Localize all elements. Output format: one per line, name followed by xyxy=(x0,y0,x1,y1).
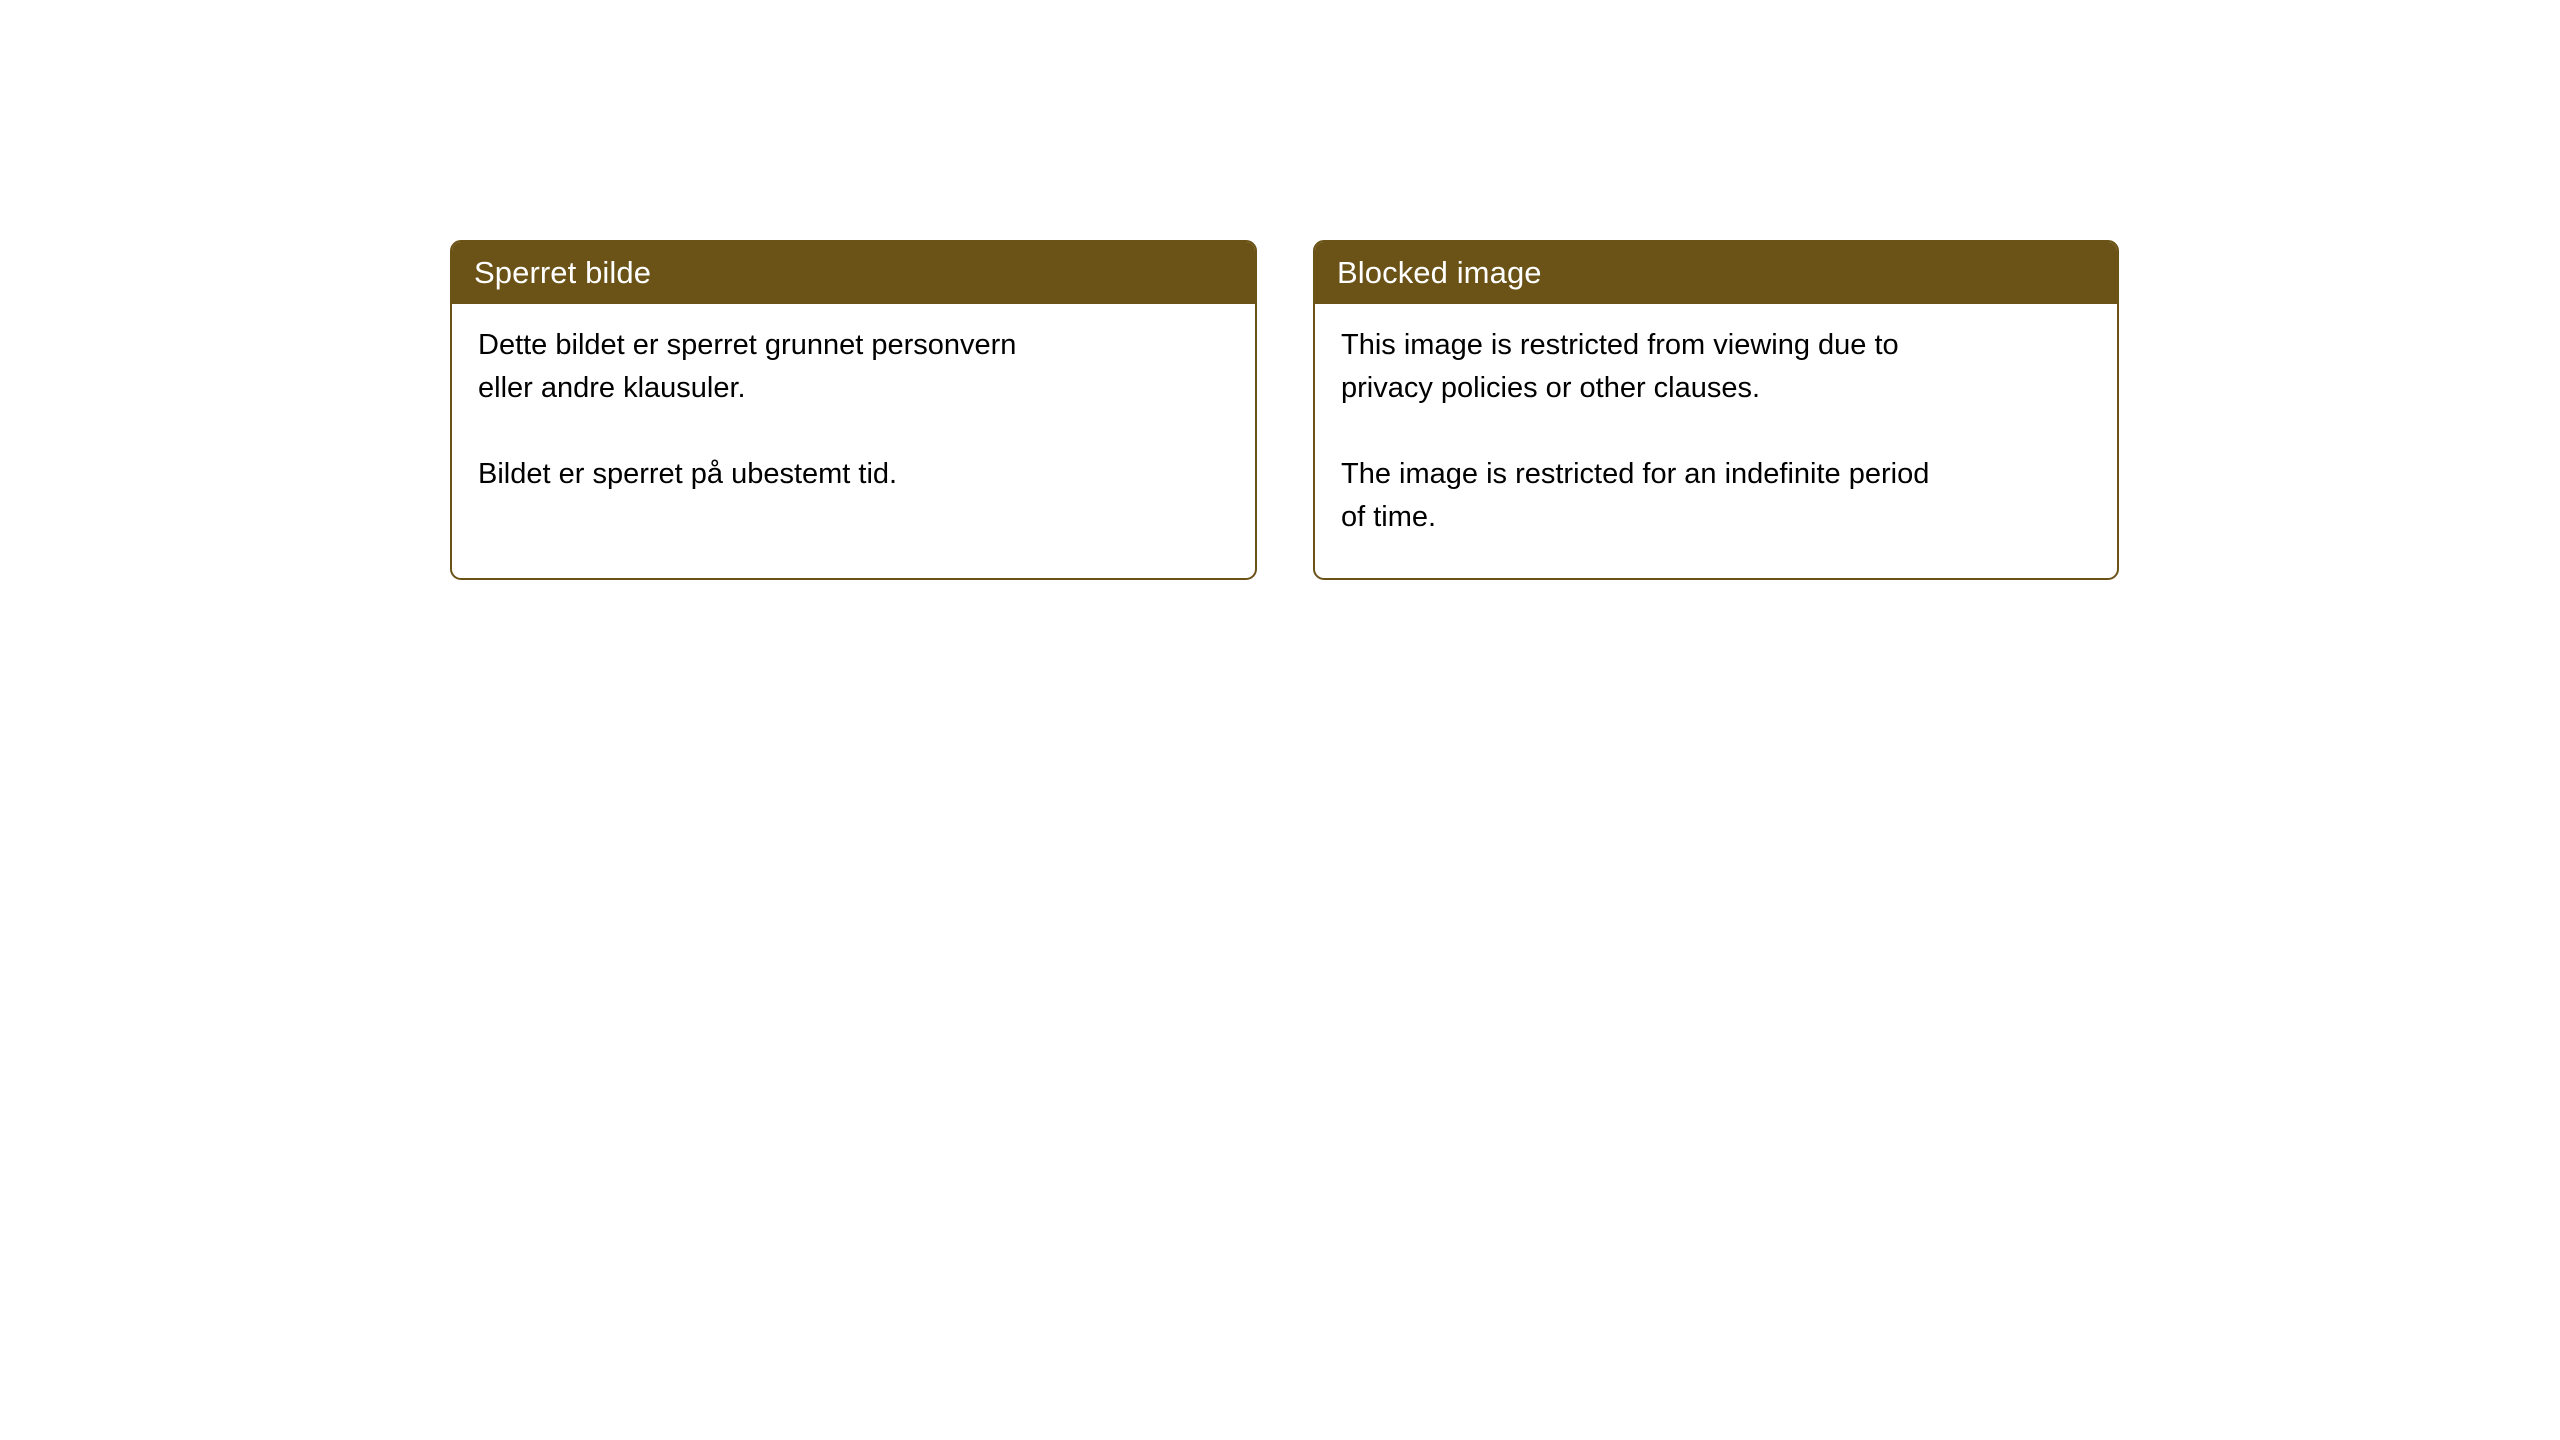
card-paragraph-secondary-english: The image is restricted for an indefinit… xyxy=(1341,453,2093,539)
card-header-english: Blocked image xyxy=(1313,240,2119,304)
blocked-image-card-english: Blocked image This image is restricted f… xyxy=(1313,240,2119,580)
card-paragraph-secondary-norwegian: Bildet er sperret på ubestemt tid. xyxy=(478,453,1231,496)
card-header-norwegian: Sperret bilde xyxy=(450,240,1257,304)
blocked-image-notice-area: Sperret bilde Dette bildet er sperret gr… xyxy=(0,0,2560,1440)
card-title-norwegian: Sperret bilde xyxy=(474,257,651,288)
card-title-english: Blocked image xyxy=(1337,257,1542,288)
card-paragraph-primary-norwegian: Dette bildet er sperret grunnet personve… xyxy=(478,324,1231,410)
blocked-image-card-norwegian: Sperret bilde Dette bildet er sperret gr… xyxy=(450,240,1257,580)
card-body-english: This image is restricted from viewing du… xyxy=(1315,304,2117,539)
card-body-norwegian: Dette bildet er sperret grunnet personve… xyxy=(452,304,1255,496)
card-paragraph-primary-english: This image is restricted from viewing du… xyxy=(1341,324,2093,410)
